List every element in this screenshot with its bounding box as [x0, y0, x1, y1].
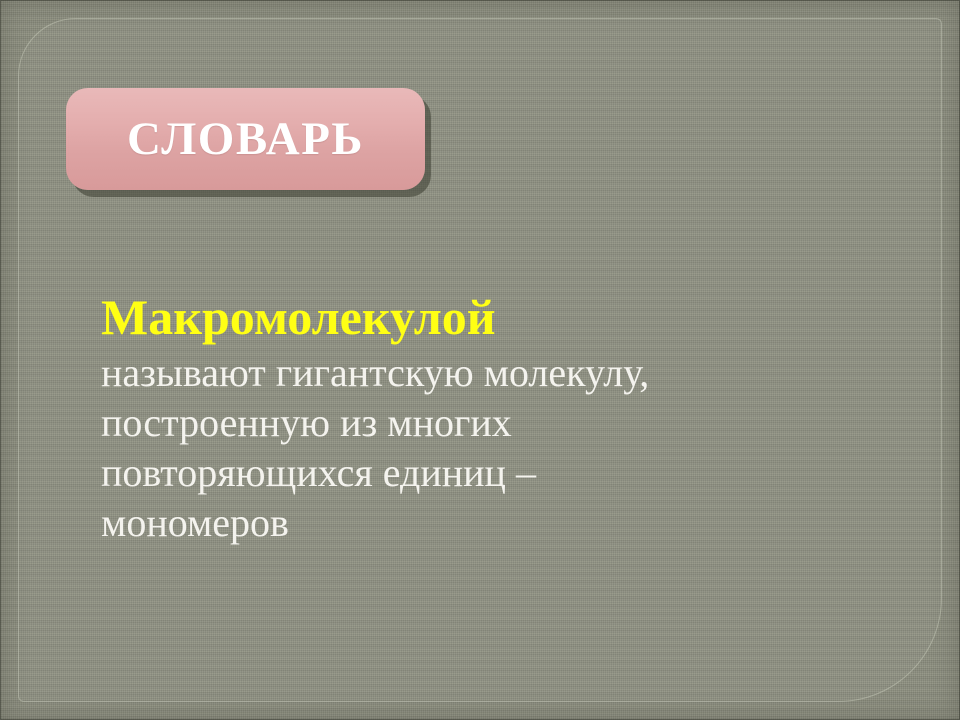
definition-term: Макромолекулой [101, 286, 801, 348]
definition-line-3: повторяющихся единиц – [101, 448, 801, 498]
definition-line-4: мономеров [101, 498, 801, 548]
slide-title-label: СЛОВАРЬ [127, 116, 364, 163]
presentation-slide: СЛОВАРЬ Макромолекулой называют гигантск… [0, 0, 960, 720]
slide-title-badge[interactable]: СЛОВАРЬ [66, 88, 425, 190]
definition-text-block: Макромолекулой называют гигантскую молек… [101, 286, 801, 548]
definition-line-1: называют гигантскую молекулу, [101, 348, 801, 398]
definition-line-2: построенную из многих [101, 398, 801, 448]
